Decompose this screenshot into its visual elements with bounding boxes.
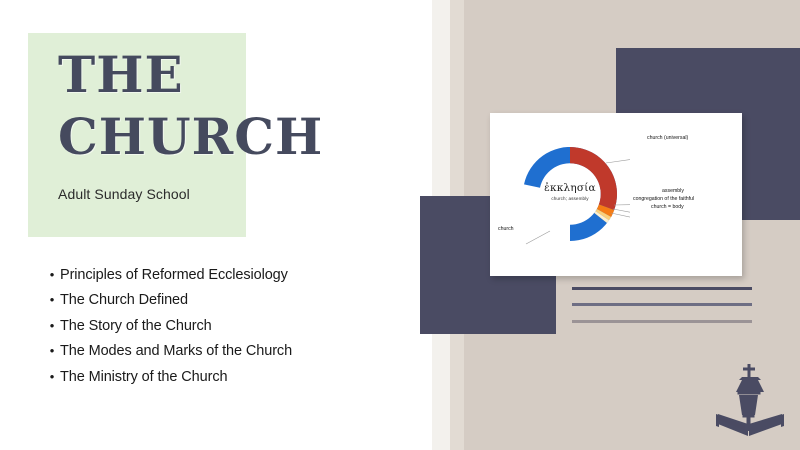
list-item-label: The Ministry of the Church — [60, 370, 227, 386]
bullet-list: • Principles of Reformed Ecclesiology • … — [44, 268, 404, 395]
list-item: • The Modes and Marks of the Church — [44, 344, 404, 360]
list-item-label: The Modes and Marks of the Church — [60, 344, 292, 360]
donut-label-congregation: congregation of the faithful — [633, 196, 694, 203]
donut-center-word: ἐκκλησία — [510, 183, 630, 194]
bullet-dot-icon: • — [44, 319, 60, 332]
accent-rule-1 — [572, 287, 752, 290]
list-item-label: Principles of Reformed Ecclesiology — [60, 268, 288, 284]
donut-label-church-body: church = body — [651, 204, 684, 211]
list-item-label: The Church Defined — [60, 293, 188, 309]
lantern-cross-book-icon — [712, 362, 788, 444]
bullet-dot-icon: • — [44, 370, 60, 383]
bullet-dot-icon: • — [44, 268, 60, 281]
list-item-label: The Story of the Church — [60, 319, 212, 335]
chart-card: ἐκκλησία church; assembly church (univer… — [490, 113, 742, 276]
bullet-dot-icon: • — [44, 293, 60, 306]
list-item: • The Story of the Church — [44, 319, 404, 335]
page-title: THE CHURCH — [58, 44, 388, 168]
donut-label-church-universal: church (universal) — [647, 135, 688, 142]
list-item: • The Ministry of the Church — [44, 370, 404, 386]
list-item: • Principles of Reformed Ecclesiology — [44, 268, 404, 284]
presentation-slide: ἐκκλησία church; assembly church (univer… — [0, 0, 800, 450]
donut-label-assembly: assembly — [662, 188, 684, 195]
list-item: • The Church Defined — [44, 293, 404, 309]
accent-rule-2 — [572, 303, 752, 306]
donut-chart: ἐκκλησία church; assembly — [510, 131, 630, 257]
donut-label-church: church — [498, 226, 514, 233]
page-subtitle: Adult Sunday School — [58, 186, 190, 202]
donut-center-gloss: church; assembly — [510, 196, 630, 201]
accent-rule-3 — [572, 320, 752, 323]
donut-chart-svg — [510, 131, 630, 257]
bullet-dot-icon: • — [44, 344, 60, 357]
